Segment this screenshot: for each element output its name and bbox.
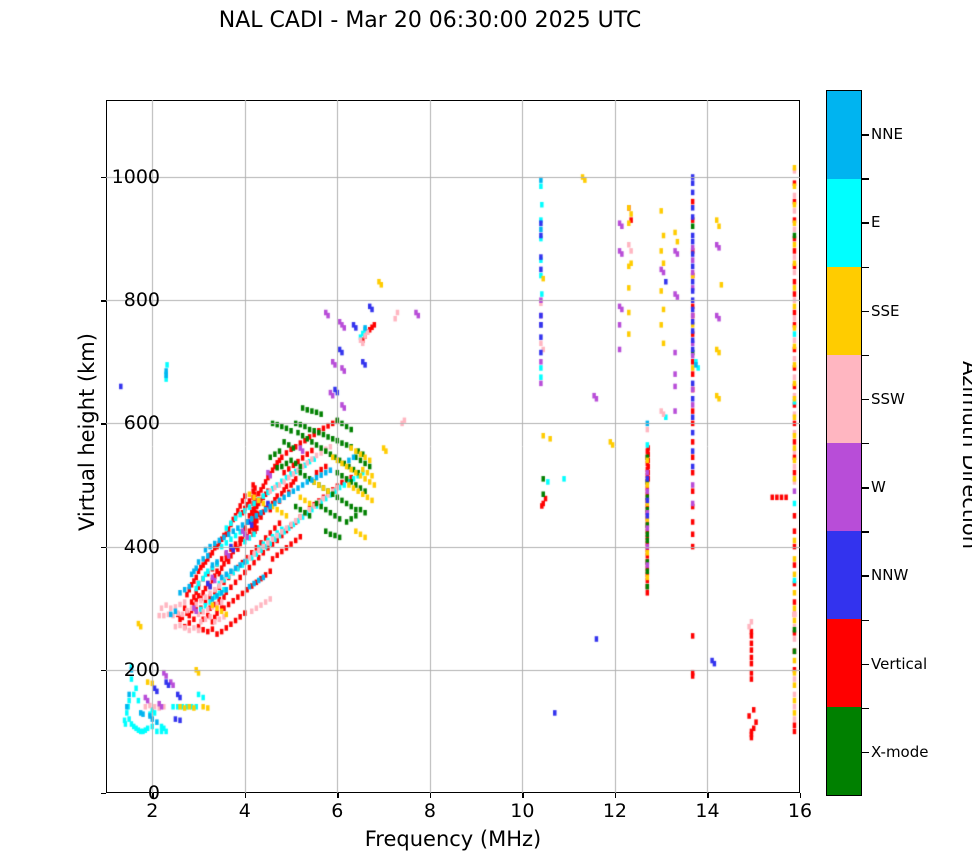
page-title: NAL CADI - Mar 20 06:30:00 2025 UTC [0, 8, 860, 33]
y-tick-mark-600 [101, 423, 106, 424]
y-axis-label: Virtual height (km) [75, 85, 99, 779]
x-tick-label-12: 12 [603, 800, 627, 822]
colorbar-label-nne: NNE [871, 125, 903, 143]
colorbar-edge-tick-1 [862, 178, 869, 179]
x-tick-mark-8 [430, 793, 431, 798]
colorbar-band-nnw[interactable] [827, 531, 861, 619]
colorbar-label-x-mode: X-mode [871, 743, 928, 761]
colorbar-label-sse: SSE [871, 302, 900, 320]
colorbar-label-e: E [871, 213, 880, 231]
colorbar-band-x-mode[interactable] [827, 707, 861, 795]
colorbar-tick-5 [862, 575, 869, 576]
x-tick-mark-14 [707, 793, 708, 798]
ionogram-data-canvas [106, 100, 800, 793]
x-tick-label-14: 14 [695, 800, 719, 822]
colorbar-label-vertical: Vertical [871, 655, 927, 673]
colorbar-band-sse[interactable] [827, 267, 861, 355]
colorbar-label-nnw: NNW [871, 566, 908, 584]
colorbar[interactable] [826, 90, 862, 796]
x-tick-mark-12 [615, 793, 616, 798]
colorbar-band-e[interactable] [827, 179, 861, 267]
colorbar-edge-tick-3 [862, 355, 869, 356]
colorbar-tick-4 [862, 487, 869, 488]
y-tick-mark-800 [101, 300, 106, 301]
y-tick-label-1000: 1000 [112, 166, 160, 188]
colorbar-title: Azimuth Direction [958, 175, 972, 735]
y-tick-label-400: 400 [124, 536, 160, 558]
y-tick-label-800: 800 [124, 289, 160, 311]
y-tick-mark-1000 [101, 177, 106, 178]
y-tick-mark-0 [101, 793, 106, 794]
colorbar-tick-1 [862, 222, 869, 223]
colorbar-band-nne[interactable] [827, 91, 861, 179]
colorbar-edge-tick-4 [862, 443, 869, 444]
y-tick-label-200: 200 [124, 659, 160, 681]
colorbar-tick-0 [862, 134, 869, 135]
colorbar-tick-2 [862, 311, 869, 312]
ionogram-figure: NAL CADI - Mar 20 06:30:00 2025 UTC Freq… [0, 0, 972, 865]
y-tick-mark-200 [101, 670, 106, 671]
colorbar-edge-tick-7 [862, 708, 869, 709]
colorbar-edge-tick-2 [862, 267, 869, 268]
colorbar-edge-tick-6 [862, 620, 869, 621]
colorbar-tick-6 [862, 664, 869, 665]
x-tick-mark-4 [245, 793, 246, 798]
colorbar-tick-3 [862, 399, 869, 400]
colorbar-label-w: W [871, 478, 886, 496]
colorbar-tick-7 [862, 752, 869, 753]
x-axis-label: Frequency (MHz) [106, 827, 800, 851]
colorbar-band-w[interactable] [827, 443, 861, 531]
x-tick-label-16: 16 [788, 800, 812, 822]
x-tick-mark-16 [800, 793, 801, 798]
x-tick-label-6: 6 [331, 800, 343, 822]
colorbar-band-vertical[interactable] [827, 619, 861, 707]
colorbar-label-ssw: SSW [871, 390, 905, 408]
x-tick-mark-6 [337, 793, 338, 798]
x-tick-label-10: 10 [510, 800, 534, 822]
x-tick-mark-10 [522, 793, 523, 798]
y-tick-mark-400 [101, 547, 106, 548]
colorbar-edge-tick-5 [862, 531, 869, 532]
y-tick-label-600: 600 [124, 412, 160, 434]
colorbar-band-ssw[interactable] [827, 355, 861, 443]
x-tick-label-8: 8 [424, 800, 436, 822]
y-tick-label-0: 0 [148, 782, 160, 804]
x-tick-label-4: 4 [239, 800, 251, 822]
